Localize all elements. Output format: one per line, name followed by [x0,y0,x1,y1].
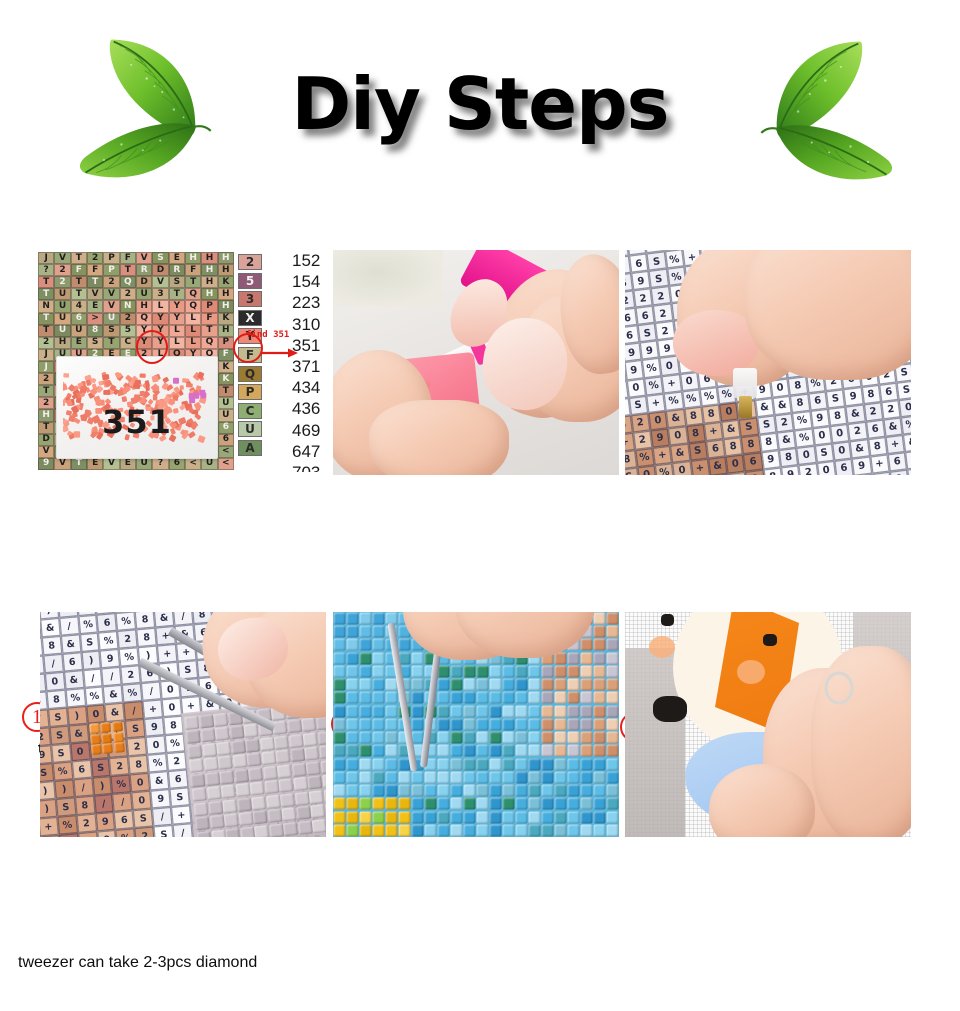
diamond-bead-cell [607,639,619,651]
symbol-cell: 8 [41,636,62,656]
canvas-symbol-cell: 2 [54,276,70,288]
placed-diamond-cell [254,825,269,837]
diamond-bead-cell [464,785,476,797]
placed-diamond-cell [237,797,252,812]
symbol-cell: 8 [790,393,810,413]
symbol-cell: 2 [630,413,650,433]
diamond-bead-cell [334,811,346,823]
canvas-symbol-cell: T [218,385,234,397]
canvas-symbol-cell: T [185,276,201,288]
canvas-symbol-cell: V [38,446,54,458]
diamond-bead-cell [477,705,489,717]
symbol-cell: 6 [635,306,655,326]
symbol-cell: 0 [648,410,668,430]
symbol-cell: 6 [168,769,189,789]
diamond-bead-cell [464,705,476,717]
diamond-bead-cell [568,679,580,691]
diamond-bead-cell [568,785,580,797]
diamond-bead-cell [386,798,398,810]
diamond-bead-cell [373,639,385,651]
diamond-bead-cell [594,679,606,691]
canvas-symbol-cell: E [87,300,103,312]
diamond-bead-cell [360,798,372,810]
canvas-symbol-cell: 2 [120,288,136,300]
diamond-bead-cell [451,705,463,717]
diamond-bead-cell [399,771,411,783]
symbol-cell: 2 [653,304,673,324]
orange-diamond-cell [100,722,111,733]
placed-diamond-cell [253,810,268,825]
diamond-bead-cell [503,665,515,677]
canvas-symbol-cell: U [54,288,70,300]
symbol-cell: 2 [863,402,883,422]
canvas-symbol-cell: T [71,458,87,470]
diamond-bead-cell [386,785,398,797]
symbol-cell: + [690,458,710,475]
symbol-cell: 6 [97,613,118,633]
diamond-bead-cell [542,679,554,691]
canvas-symbol-cell: L [185,337,201,349]
diamond-bead-cell [581,665,593,677]
diamond-bead-cell [542,785,554,797]
canvas-symbol-cell: H [136,300,152,312]
diamond-bead-cell [412,692,424,704]
placed-diamond-cell [213,713,228,728]
canvas-symbol-cell: T [38,325,54,337]
diamond-bead-cell [334,613,346,625]
canvas-symbol-cell: K [218,361,234,373]
symbol-cell: 8 [779,448,799,468]
orange-diamond-cell [114,742,125,753]
placed-diamond-cell [184,716,199,731]
diamond-bead-cell [529,824,541,836]
diamond-bead-cell [334,626,346,638]
diamond-bead-cell [347,692,359,704]
diamond-bead-cell [334,705,346,717]
diamond-bead-cell [607,811,619,823]
diamond-bead-cell [477,758,489,770]
diamond-bead-cell [425,785,437,797]
canvas-symbol-cell: T [38,385,54,397]
diamond-bead-cell [347,652,359,664]
placed-diamond-cell [240,826,255,837]
diamond-bead-cell [347,626,359,638]
symbol-cell: & [78,831,99,837]
placed-diamond-cell [295,791,310,806]
symbol-cell: S [48,708,69,728]
orange-diamond-cell [101,733,112,744]
canvas-symbol-cell: U [54,300,70,312]
placed-diamond-cell [248,767,263,782]
symbol-cell: S [169,787,190,807]
diamond-bead-cell [555,824,567,836]
symbol-cell: % [52,761,73,781]
placed-diamond-cell [225,828,240,837]
diamond-bead-cell [594,758,606,770]
diamond-bead-cell [334,679,346,691]
diamond-bead-cell [438,718,450,730]
diamond-bead-cell [594,613,606,625]
canvas-symbol-cell: T [38,288,54,300]
diamond-bead-cell [516,811,528,823]
symbol-cell: & [755,397,775,417]
symbol-cell: 9 [144,717,165,737]
symbol-cell: 2 [632,430,652,450]
canvas-symbol-cell: U [218,409,234,421]
diamond-bead-cell [347,824,359,836]
canvas-symbol-cell: P [103,252,119,264]
placed-diamond-cell [263,766,278,781]
canvas-symbol-cell: P [218,337,234,349]
diamond-bead-cell [438,692,450,704]
canvas-symbol-cell: V [87,288,103,300]
canvas-symbol-cell: U [103,313,119,325]
symbol-cell: + [40,817,59,837]
diamond-bead-cell [477,718,489,730]
symbol-cell: 8 [867,437,887,457]
diamond-bead-cell [568,652,580,664]
diamond-bead-cell [594,718,606,730]
diamond-bead-cell [373,613,385,625]
diamond-bead-cell [503,732,515,744]
canvas-symbol-cell: L [169,337,185,349]
diamond-bead-cell [607,705,619,717]
diamond-bead-cell [594,692,606,704]
diamond-bead-cell [581,771,593,783]
canvas-symbol-cell: 2 [103,276,119,288]
canvas-symbol-cell: T [71,288,87,300]
canvas-symbol-cell: E [71,337,87,349]
symbol-cell: 8 [686,424,706,444]
symbol-cell: % [84,686,105,706]
canvas-symbol-cell: Y [152,337,168,349]
canvas-symbol-cell: P [201,300,217,312]
diy-steps-infographic: Diy Steps [0,0,960,1011]
canvas-symbol-cell: T [38,313,54,325]
diamond-bead-cell [360,679,372,691]
symbol-cell: 0 [672,461,692,475]
orange-diamond-patch [89,721,126,756]
diamond-bead-cell [360,785,372,797]
find-arrow-icon [244,348,298,358]
canvas-symbol-cell: U [54,325,70,337]
symbol-cell: 8 [684,406,704,426]
diamond-bead-cell [386,705,398,717]
symbol-cell: % [147,753,168,773]
diamond-bead-cell [529,718,541,730]
placed-diamond-cell [203,757,218,772]
canvas-symbol-cell: Q [185,288,201,300]
symbol-cell: S [739,417,759,437]
diamond-bead-cell [412,785,424,797]
canvas-symbol-cell: 6 [71,313,87,325]
canvas-symbol-cell: V [103,288,119,300]
diamond-bead-cell [347,771,359,783]
diamond-bead-cell [529,732,541,744]
diamond-bead-cell [581,811,593,823]
diamond-bead-cell [568,705,580,717]
placed-diamond-cell [232,754,247,769]
diamond-bead-cell [568,692,580,704]
symbol-cell: 6 [62,652,83,672]
diamond-bead-cell [360,732,372,744]
symbol-cell: / [124,701,145,721]
canvas-symbol-cell: E [87,458,103,470]
symbol-cell: 2 [848,421,868,441]
diamond-bead-cell [529,692,541,704]
diamond-bead-cell [542,705,554,717]
diamond-bead-cell [516,679,528,691]
diamond-bead-cell [581,679,593,691]
placed-diamond-cell [276,750,291,765]
diamond-bead-cell [386,771,398,783]
symbol-cell: 0 [899,397,911,417]
symbol-cell: % [122,683,143,703]
symbol-cell: 6 [834,458,854,475]
symbol-cell: & [777,430,797,450]
diamond-bead-cell [490,745,502,757]
symbol-cell: & [883,417,903,437]
placed-diamond-cell [302,718,317,733]
canvas-symbol-cell: V [54,252,70,264]
diamond-bead-cell [542,718,554,730]
canvas-symbol-cell: H [201,276,217,288]
diamond-bead-cell [477,811,489,823]
symbol-cell: 9 [631,271,651,291]
diamond-bead-cell [594,626,606,638]
diamond-bead-cell [373,665,385,677]
canvas-symbol-cell: Y [152,325,168,337]
diamond-bead-cell [555,652,567,664]
symbol-cell: 0 [830,424,850,444]
diamond-bead-cell [568,665,580,677]
diamond-bead-cell [516,824,528,836]
diamond-bead-cell [490,665,502,677]
symbol-cell: 0 [70,742,91,762]
canvas-symbol-cell: 6 [218,422,234,434]
symbol-cell: % [642,358,662,378]
diamond-bead-cell [555,732,567,744]
placed-diamond-cell [219,770,234,785]
symbol-cell: + [662,373,682,393]
diamond-bead-cell [581,745,593,757]
symbol-cell: / [83,668,104,688]
canvas-symbol-cell: H [218,264,234,276]
canvas-symbol-cell: Q [120,276,136,288]
diamond-bead-cell [386,824,398,836]
diamond-bead-cell [373,718,385,730]
diamond-bead-cell [529,785,541,797]
canvas-symbol-cell: < [185,458,201,470]
placed-diamond-cell [290,748,305,763]
placed-diamond-cell [238,812,253,827]
canvas-symbol-cell: F [87,264,103,276]
diamond-bead-cell [490,811,502,823]
diamond-bead-cell [360,824,372,836]
symbol-cell: ) [67,706,88,726]
symbol-cell: 8 [701,404,721,424]
diamond-bead-cell [581,732,593,744]
diamond-bead-cell [529,798,541,810]
diamond-bead-cell [529,771,541,783]
symbol-cell: / [102,667,123,687]
symbol-cell: 0 [130,773,151,793]
diamond-bead-cell [516,758,528,770]
canvas-symbol-cell: H [218,325,234,337]
placed-diamond-cell [211,829,226,837]
symbol-cell: 8 [40,835,60,837]
canvas-symbol-cell: Q [136,313,152,325]
diamond-bead-cell [334,652,346,664]
diamond-bead-cell [360,745,372,757]
step-1-image: JVT2PFVSEHHH?2FFPTRDRFHHT2TT2QDVSTHKTUTV… [30,250,330,472]
legend-swatch: 3 [238,291,262,307]
diamond-bead-cell [334,798,346,810]
symbol-cell: 2 [774,413,794,433]
symbol-cell: & [64,670,85,690]
placed-diamond-cell [192,788,207,803]
dmc-number: 310 [292,314,330,335]
diamond-bead-cell [412,679,424,691]
canvas-symbol-cell: F [71,264,87,276]
canvas-symbol-chart: JVT2PFVSEHHH?2FFPTRDRFHHT2TT2QDVSTHKTUTV… [38,252,234,470]
placed-diamond-cell [206,786,221,801]
diamond-bead-cell [373,626,385,638]
diamond-bead-cell [360,665,372,677]
placed-diamond-cell [209,815,224,830]
symbol-cell: 0 [668,426,688,446]
symbol-cell: 6 [887,452,907,472]
placed-diamond-cell [298,820,313,835]
placed-diamond-cell [205,772,220,787]
diamond-bead-cell [451,758,463,770]
diamond-bead-cell [451,679,463,691]
placed-diamond-cell [303,732,318,747]
diamond-bead-cell [347,798,359,810]
diamond-bead-cell [607,613,619,625]
diamond-bead-cell [451,798,463,810]
canvas-symbol-cell: J [38,252,54,264]
symbol-cell: % [119,647,140,667]
symbol-cell: % [111,774,132,794]
symbol-cell: 8 [828,406,848,426]
symbol-cell: 2 [121,665,142,685]
canvas-symbol-cell: 2 [38,337,54,349]
symbol-cell: 0 [86,704,107,724]
diamond-bead-cell [477,798,489,810]
diamond-bead-cell [594,785,606,797]
placed-diamond-cell [325,803,326,818]
diamond-bead-cell [334,771,346,783]
placed-diamond-cell [187,745,202,760]
canvas-symbol-cell: K [218,313,234,325]
canvas-symbol-cell: 2 [38,397,54,409]
diamond-bead-cell [568,758,580,770]
symbol-cell: 8 [135,612,156,629]
diamond-bead-cell [568,745,580,757]
diamond-bead-cell [347,665,359,677]
canvas-symbol-cell: T [169,288,185,300]
symbol-cell: 9 [150,789,171,809]
symbol-cell: S [56,797,77,817]
diamond-bead-cell [464,811,476,823]
header: Diy Steps [0,0,960,220]
diamond-bead-cell [438,705,450,717]
canvas-symbol-cell: T [120,264,136,276]
symbol-cell: 9 [650,428,670,448]
diamond-bead-cell [568,771,580,783]
canvas-symbol-cell: H [218,252,234,264]
canvas-symbol-cell: F [185,264,201,276]
canvas-symbol-cell: N [38,300,54,312]
diamond-bead-cell [373,692,385,704]
placed-diamond-cell [245,738,260,753]
placed-diamond-cell [266,794,281,809]
symbol-cell: 8 [723,437,743,457]
symbol-cell: 6 [879,382,899,402]
diamond-bead-cell [555,665,567,677]
symbol-cell: & [40,618,60,638]
placed-diamond-cell [196,831,211,837]
symbol-cell: 8 [128,755,149,775]
symbol-cell: 2 [166,751,187,771]
step-5-image [333,612,619,837]
placed-diamond-cell [235,783,250,798]
diamond-bead-cell [438,732,450,744]
placed-diamond-cell [292,763,307,778]
symbol-cell: 8 [75,796,96,816]
canvas-symbol-cell: F [120,252,136,264]
diamond-bead-cell [607,718,619,730]
legend-swatch: C [238,403,262,419]
orange-diamond-cell [113,732,124,743]
canvas-symbol-cell: V [136,252,152,264]
find-annotation-label: find 351 [246,330,289,340]
diamond-bead-cell [516,785,528,797]
symbol-cell: % [635,448,655,468]
diamond-bead-cell [347,811,359,823]
symbol-cell: % [78,615,99,635]
symbol-cell: 9 [640,341,660,361]
canvas-symbol-cell: L [169,325,185,337]
diamond-bead-cell [360,758,372,770]
symbol-cell: % [98,631,119,651]
diamond-bead-cell [347,639,359,651]
canvas-symbol-cell: ? [152,458,168,470]
diamond-bead-cell [425,824,437,836]
placed-diamond-cell [244,724,259,739]
diamond-bead-cell [594,811,606,823]
canvas-symbol-cell: V [103,458,119,470]
placed-diamond-cell [260,737,275,752]
diamond-bead-cell [464,679,476,691]
diamond-bead-cell [360,652,372,664]
symbol-cell: ) [40,781,56,801]
diamond-bead-cell [607,692,619,704]
symbol-cell: & [670,443,690,463]
placed-diamond-cell [305,747,320,762]
diamond-bead-cell [542,745,554,757]
diamond-bead-cell [490,771,502,783]
canvas-symbol-cell: U [71,325,87,337]
symbol-cell: 6 [114,810,135,830]
symbol-cell: 0 [659,356,679,376]
diamond-bead-cell [594,771,606,783]
symbol-cell: S [647,251,667,271]
canvas-symbol-cell: H [201,252,217,264]
diamond-bead-cell [373,705,385,717]
symbol-cell: S [125,719,146,739]
